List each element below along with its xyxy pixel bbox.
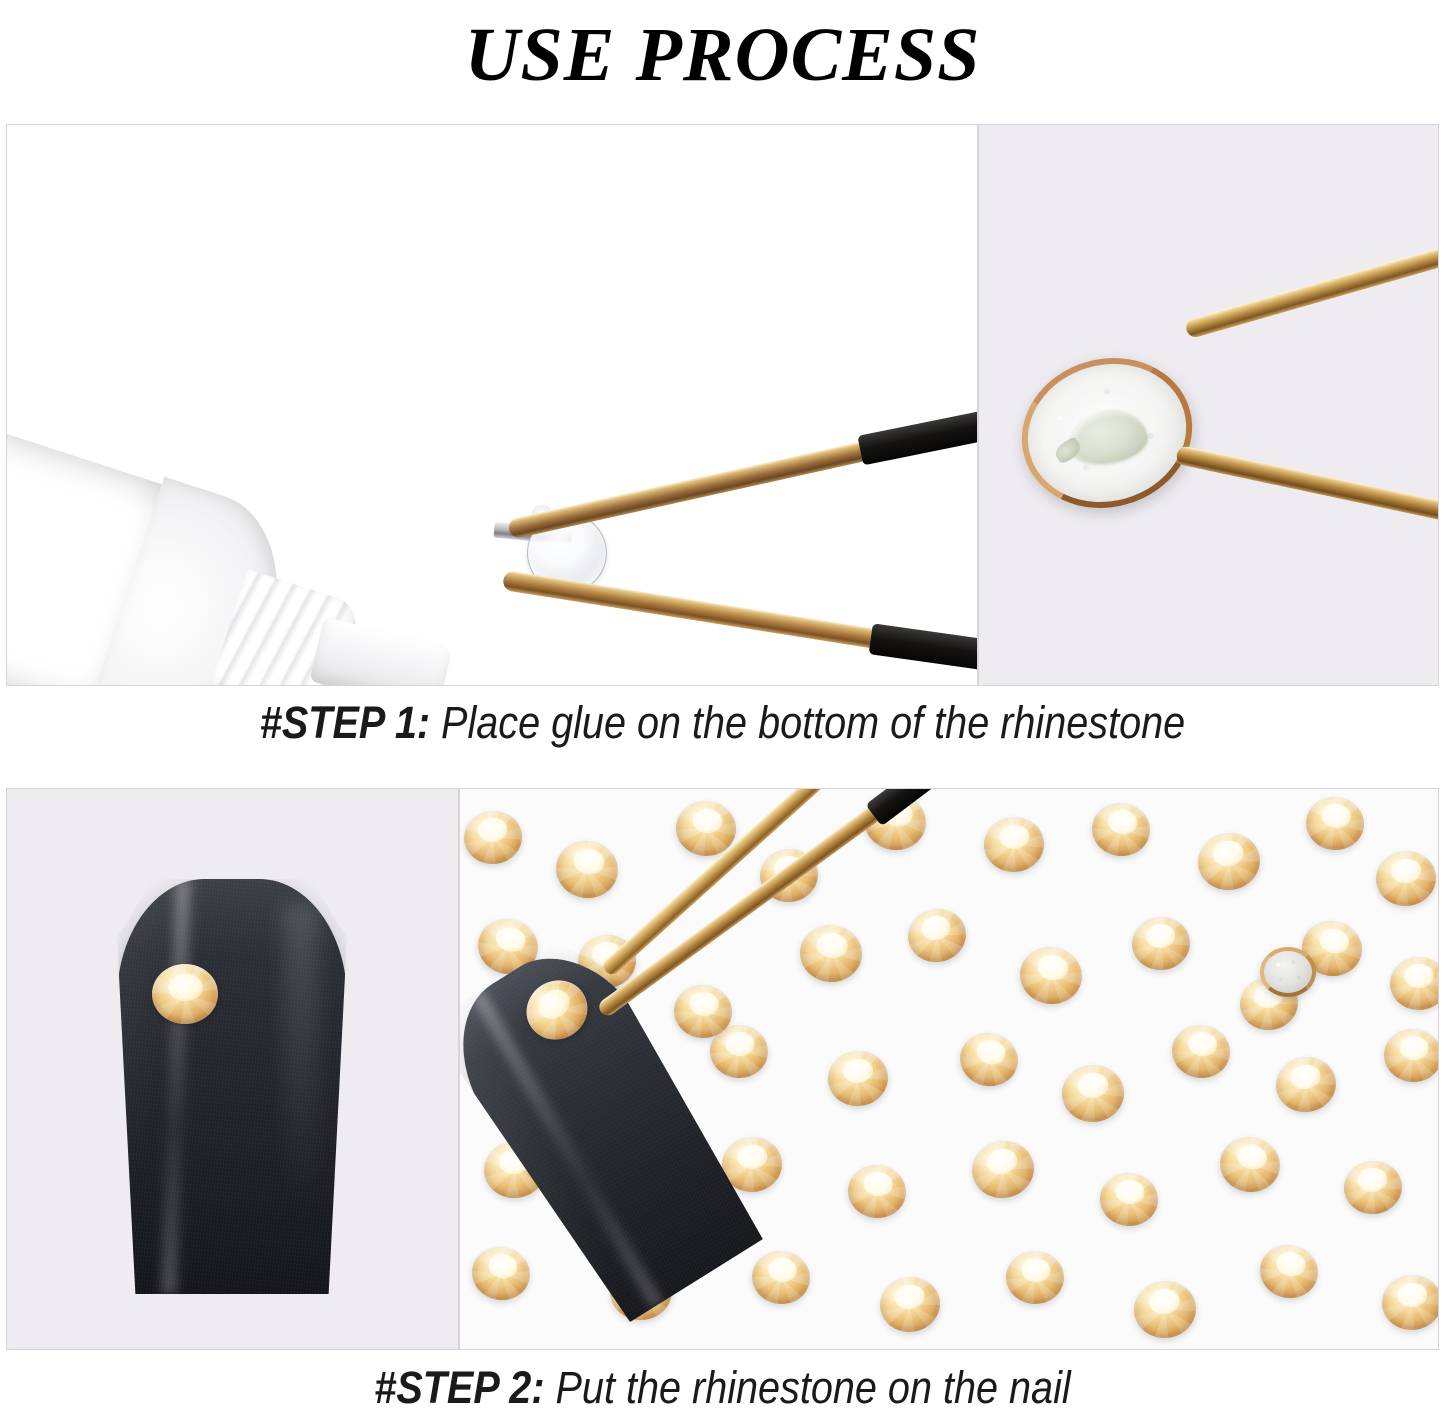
- scattered-rhinestone: [749, 1248, 813, 1308]
- tweezer-arm-metal: [507, 438, 882, 540]
- scattered-rhinestone: [1216, 1133, 1284, 1197]
- tweezer-arm-metal: [1184, 230, 1439, 339]
- scattered-rhinestone: [1169, 1021, 1234, 1082]
- scattered-rhinestone: [467, 1242, 534, 1305]
- tweezer-arm-metal: [502, 570, 890, 651]
- tweezer-arm-metal: [1175, 445, 1439, 534]
- scattered-rhinestone: [876, 1273, 944, 1337]
- panel-applying-rhinestone: [459, 788, 1439, 1350]
- glue-bottle-tip: [309, 617, 452, 686]
- scattered-rhinestone: [798, 922, 865, 984]
- glue-bottle: D A: [6, 382, 465, 686]
- scattered-rhinestone: [1194, 828, 1265, 895]
- step-2-label: #STEP 2:: [374, 1362, 544, 1413]
- scattered-rhinestone: [1089, 799, 1154, 860]
- scattered-rhinestone: [825, 1048, 891, 1110]
- scattered-rhinestone: [1380, 1272, 1439, 1332]
- scattered-rhinestone: [1341, 1158, 1404, 1217]
- scattered-rhinestone: [967, 1135, 1039, 1204]
- scattered-rhinestone: [982, 815, 1046, 874]
- scattered-rhinestone: [845, 1162, 908, 1221]
- tweezer-lower-arm: [1179, 445, 1439, 516]
- glue-label-letter-1: D: [6, 507, 19, 607]
- step-1-text: Place glue on the bottom of the rhinesto…: [430, 697, 1185, 748]
- step-2-text: Put the rhinestone on the nail: [545, 1362, 1071, 1413]
- scattered-rhinestone: [461, 808, 524, 867]
- applied-rhinestone: [152, 964, 218, 1024]
- scattered-rhinestone: [955, 1027, 1023, 1092]
- scattered-rhinestone: [1303, 794, 1366, 853]
- step-1-caption: #STEP 1: Place glue on the bottom of the…: [87, 697, 1359, 749]
- tweezer-upper-arm: [507, 418, 966, 520]
- scattered-rhinestone: [1382, 1027, 1439, 1085]
- scattered-rhinestone: [1272, 1052, 1341, 1117]
- scattered-rhinestone: [1098, 1171, 1160, 1228]
- scattered-rhinestone: [1005, 1250, 1066, 1306]
- scattered-rhinestone: [1131, 1277, 1199, 1341]
- scattered-rhinestone: [1016, 943, 1086, 1009]
- scattered-rhinestone: [1060, 1063, 1126, 1124]
- scattered-rhinestone: [903, 904, 971, 968]
- scattered-rhinestone: [1389, 956, 1439, 1012]
- flipped-rhinestone-foil-back: [1260, 947, 1316, 997]
- step-2-caption: #STEP 2: Put the rhinestone on the nail: [87, 1362, 1359, 1414]
- tweezer-lower-arm: [505, 570, 978, 645]
- step-1-label: #STEP 1:: [260, 697, 430, 748]
- scattered-rhinestone: [1255, 1240, 1323, 1304]
- panel-rhinestone-flatback-with-glue: [978, 124, 1439, 686]
- press-on-nail: [117, 879, 347, 1294]
- nail-highlight-secondary: [283, 904, 319, 1211]
- tweezer-handle-black: [857, 410, 978, 465]
- scattered-rhinestone: [552, 836, 623, 903]
- step-1-panel-row: D A: [6, 124, 1439, 686]
- panel-finished-nail: [6, 788, 459, 1350]
- page-title: USE PROCESS: [0, 0, 1445, 110]
- panel-glue-bottle-and-tweezers: D A: [6, 124, 978, 686]
- scattered-rhinestone: [1129, 914, 1192, 973]
- scattered-rhinestone: [1374, 848, 1439, 908]
- tweezer-handle-black: [869, 623, 978, 672]
- tweezer-upper-arm: [1184, 230, 1439, 321]
- step-2-panel-row: [6, 788, 1439, 1350]
